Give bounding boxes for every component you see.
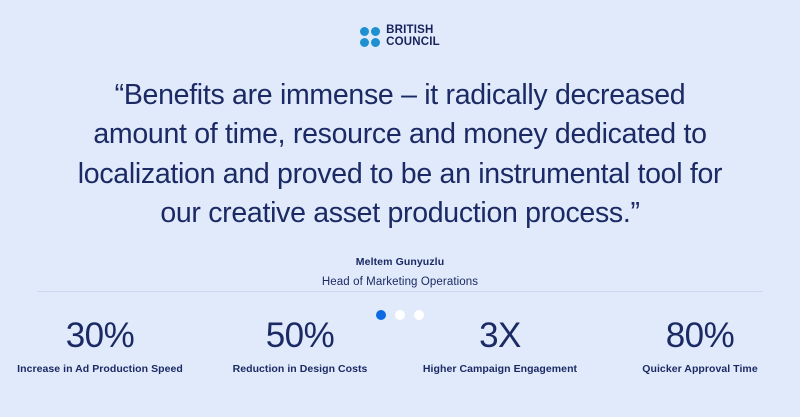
logo-wordmark: BRITISH COUNCIL <box>386 25 440 48</box>
stat-label: Reduction in Design Costs <box>200 363 400 375</box>
author-role: Head of Marketing Operations <box>322 273 478 291</box>
stat-label: Quicker Approval Time <box>600 363 800 375</box>
testimonial-attribution: Meltem Gunyuzlu Head of Marketing Operat… <box>322 255 478 291</box>
stat-value: 50% <box>200 316 400 355</box>
logo-wordmark-line2: COUNCIL <box>386 37 440 49</box>
stat-value: 80% <box>600 316 800 355</box>
logo-dots-icon <box>360 27 380 47</box>
stat-item: 80% Quicker Approval Time <box>600 316 800 375</box>
logo-dot-top-right <box>371 27 380 36</box>
stat-label: Increase in Ad Production Speed <box>0 363 200 375</box>
stat-label: Higher Campaign Engagement <box>400 363 600 375</box>
stat-item: 50% Reduction in Design Costs <box>200 316 400 375</box>
stat-value: 3X <box>400 316 600 355</box>
stats-row: 30% Increase in Ad Production Speed 50% … <box>0 316 800 375</box>
testimonial-section: BRITISH COUNCIL “Benefits are immense – … <box>0 0 800 417</box>
testimonial-quote: “Benefits are immense – it radically dec… <box>70 76 730 233</box>
author-name: Meltem Gunyuzlu <box>322 255 478 271</box>
stat-item: 30% Increase in Ad Production Speed <box>0 316 200 375</box>
stat-value: 30% <box>0 316 200 355</box>
stat-item: 3X Higher Campaign Engagement <box>400 316 600 375</box>
logo-dot-bottom-right <box>371 38 380 47</box>
logo-dot-bottom-left <box>360 38 369 47</box>
section-divider <box>38 291 762 292</box>
logo-dot-top-left <box>360 27 369 36</box>
british-council-logo: BRITISH COUNCIL <box>360 24 440 50</box>
